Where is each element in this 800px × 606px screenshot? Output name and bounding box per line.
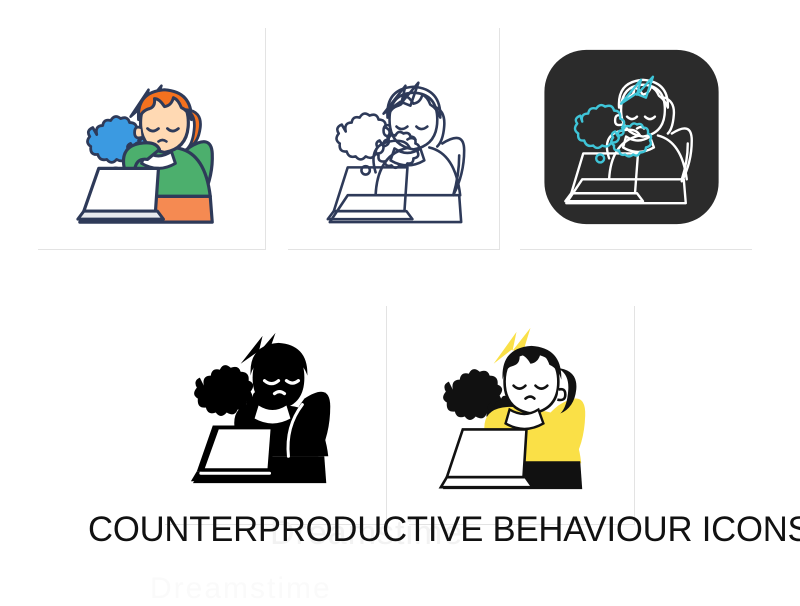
- watermark-ghost-secondary: Dreamstime: [150, 572, 670, 602]
- glyph-icon-panel[interactable]: [165, 306, 387, 525]
- line-icon-panel[interactable]: [288, 28, 500, 250]
- line-icon-artwork: [288, 28, 499, 249]
- flat-icon-panel[interactable]: [409, 306, 635, 525]
- icon-sheet: Dreamstime Dreamstime COUNTERPRODUCTIVE …: [0, 0, 800, 566]
- glyph-icon-artwork: [165, 306, 386, 524]
- dark-tile-icon-panel[interactable]: [520, 28, 752, 250]
- color-icon-artwork: [38, 28, 265, 249]
- flat-icon-artwork: [409, 306, 634, 524]
- page-title: COUNTERPRODUCTIVE BEHAVIOUR ICONS: [88, 510, 708, 550]
- color-icon-panel[interactable]: [38, 28, 266, 250]
- dark-tile-icon-artwork: [520, 28, 752, 249]
- title-band: Dreamstime Dreamstime COUNTERPRODUCTIVE …: [0, 252, 800, 304]
